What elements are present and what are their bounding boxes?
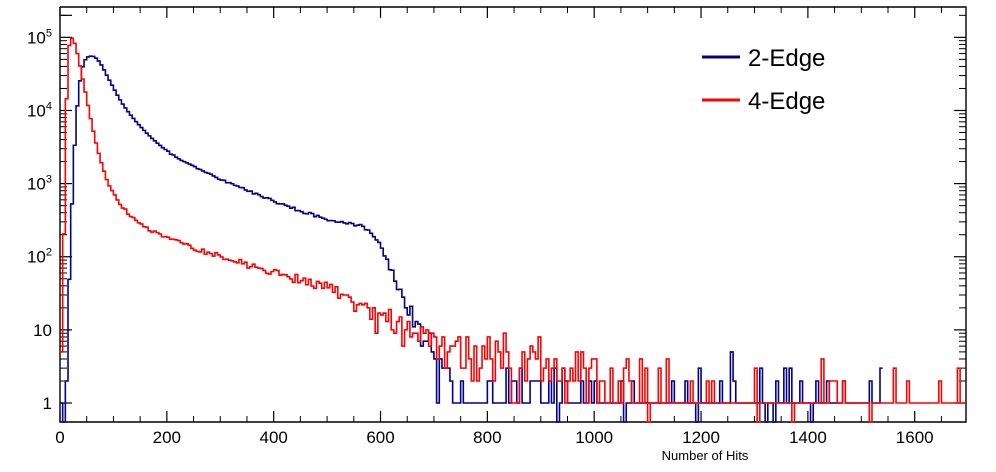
histogram-plot: 02004006008001000120014001600 1101021031…: [0, 0, 996, 472]
axis-frame: [60, 7, 966, 422]
figure-canvas: 02004006008001000120014001600 1101021031…: [0, 0, 996, 472]
x-axis-title: Number of Hits: [662, 448, 749, 463]
y-tick-label: 104: [27, 100, 52, 120]
y-axis-tick-labels: 110102103104105: [27, 27, 52, 413]
plot-frame: [60, 7, 966, 422]
x-axis-tick-labels: 02004006008001000120014001600: [55, 428, 933, 447]
x-tick-label: 600: [366, 428, 394, 447]
y-tick-label: 10: [33, 321, 52, 340]
x-tick-label: 1200: [682, 428, 720, 447]
x-tick-label: 1400: [789, 428, 827, 447]
x-tick-label: 1000: [575, 428, 613, 447]
legend-label-two-edge: 2-Edge: [748, 45, 825, 72]
y-tick-label: 103: [27, 174, 52, 194]
y-tick-label: 1: [43, 394, 52, 413]
y-tick-label: 105: [27, 27, 52, 47]
x-tick-label: 400: [259, 428, 287, 447]
x-tick-label: 0: [55, 428, 64, 447]
y-axis-ticks: [60, 15, 966, 403]
x-tick-label: 200: [153, 428, 181, 447]
series-4-edge: [60, 38, 966, 422]
x-tick-label: 800: [473, 428, 501, 447]
legend: 2-Edge4-Edge: [702, 45, 825, 115]
x-tick-label: 1600: [896, 428, 934, 447]
legend-label-four-edge: 4-Edge: [748, 88, 825, 115]
data-series-layer: [60, 38, 966, 422]
y-tick-label: 102: [27, 247, 52, 267]
